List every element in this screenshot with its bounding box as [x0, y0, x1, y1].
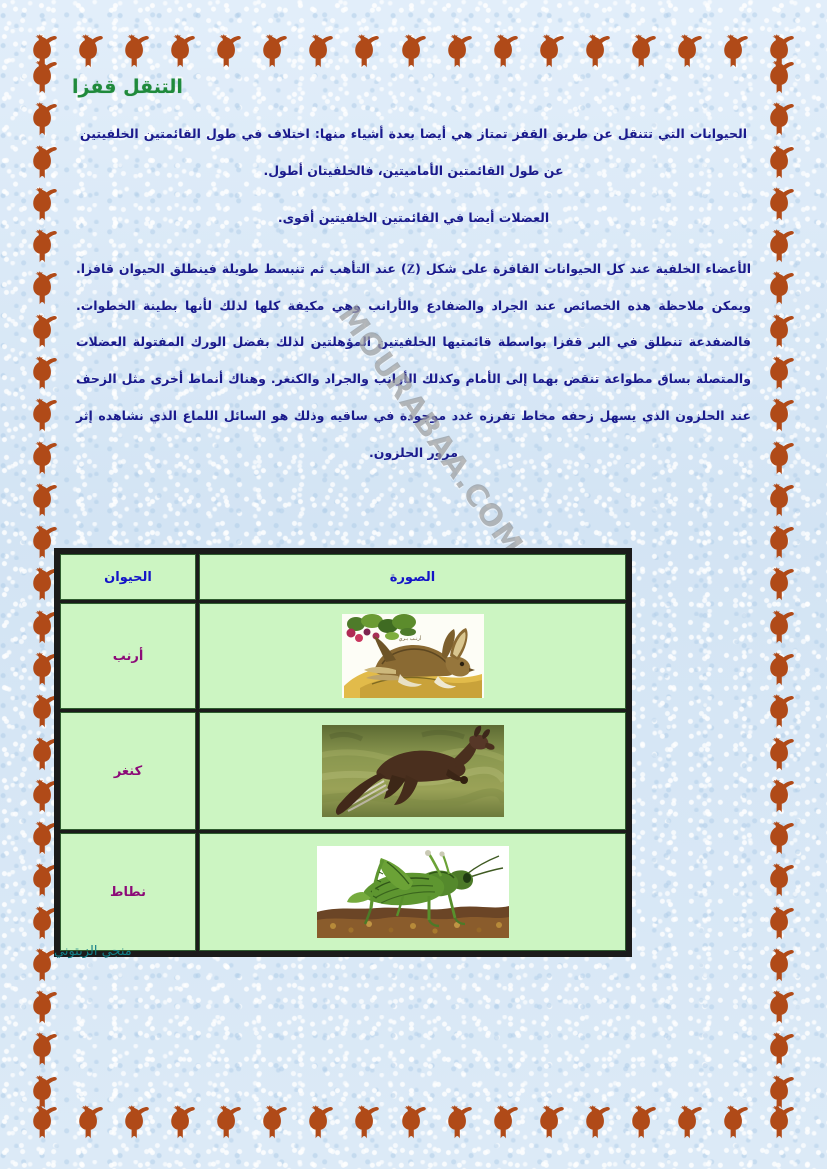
cell-animal-name: نطاط	[60, 833, 196, 951]
paragraph-3-part-a: الأعضاء الخلفية عند كل الحيوانات القافزة…	[415, 261, 751, 276]
table-row: أرنـب بـري أرنب	[60, 603, 626, 709]
column-header-image: الصورة	[199, 554, 626, 600]
paragraph-3: الأعضاء الخلفية عند كل الحيوانات القافزة…	[72, 251, 755, 472]
rabbit-image: أرنـب بـري	[200, 614, 625, 698]
svg-text:أرنـب بـري: أرنـب بـري	[398, 635, 421, 642]
animals-table-wrapper: الصورة الحيوان	[54, 548, 632, 957]
column-header-animal: الحيوان	[60, 554, 196, 600]
z-shape-label: Z	[407, 262, 415, 276]
paragraph-1: الحيوانات التي تتنقل عن طريق القفز تمتاز…	[72, 116, 755, 190]
paragraph-2: العضلات أيضا في القائمتين الخلفيتين أقوى…	[72, 200, 755, 237]
page-title: التنقل قفزا	[72, 76, 737, 98]
grasshopper-image	[200, 846, 625, 938]
cell-image-kangaroo	[199, 712, 626, 830]
table-row: كنغر	[60, 712, 626, 830]
table-header-row: الصورة الحيوان	[60, 554, 626, 600]
kangaroo-image	[200, 725, 625, 817]
cell-image-rabbit: أرنـب بـري	[199, 603, 626, 709]
paragraph-3-part-b: ) عند التأهب ثم تنبسط طويلة فينطلق الحيو…	[76, 261, 751, 460]
animals-table: الصورة الحيوان	[54, 548, 632, 957]
cell-animal-name: أرنب	[60, 603, 196, 709]
author-credit: منجي الزيتوني	[54, 944, 132, 959]
cell-animal-name: كنغر	[60, 712, 196, 830]
cell-image-grasshopper	[199, 833, 626, 951]
table-row: نطاط	[60, 833, 626, 951]
